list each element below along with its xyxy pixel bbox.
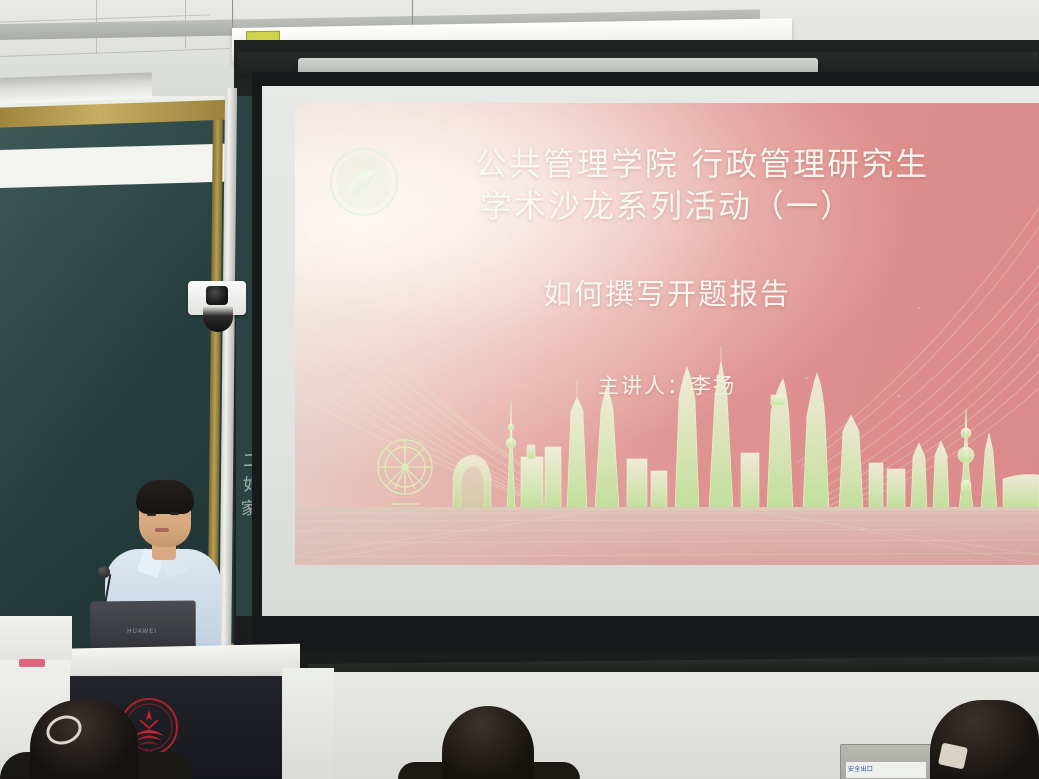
lecture-hall-photo: 二 如 家 (0, 0, 1039, 779)
laptop-brand-label: HUAWEI (118, 629, 166, 636)
ground-perspective-lines (295, 507, 1039, 565)
speaker-eye-right (170, 512, 179, 515)
city-skyline-silhouette (295, 339, 1039, 519)
camera-lens-icon (206, 286, 228, 305)
pink-desk-item (19, 659, 45, 667)
speaker-mouth (155, 528, 169, 532)
podium-side-panel (282, 668, 334, 779)
bird-silhouette-icon: ✦ (461, 251, 469, 262)
speaker-hair (136, 480, 194, 514)
slide-subtitle: 如何撰写开题报告 (295, 271, 1039, 313)
left-wall-band (0, 143, 240, 188)
slide-title-line1: 公共管理学院 行政管理研究生 (295, 143, 1039, 185)
speaker-eye-left (147, 513, 156, 516)
projected-slide: 公共管理学院 SCHOOL OF PUBLIC ADMIN 公共管理学院 行政管… (295, 103, 1039, 565)
left-wall-block (0, 616, 72, 660)
wall-sign-text: 安全出口 (848, 764, 924, 773)
bird-silhouette-icon: ⌄ (915, 301, 923, 312)
audience-head-left (30, 700, 138, 779)
slide-title-line2: 学术沙龙系列活动（一） (295, 185, 1039, 227)
slide-title-block: 公共管理学院 行政管理研究生 学术沙龙系列活动（一） (295, 143, 1039, 227)
hanging-wire (232, 0, 233, 30)
